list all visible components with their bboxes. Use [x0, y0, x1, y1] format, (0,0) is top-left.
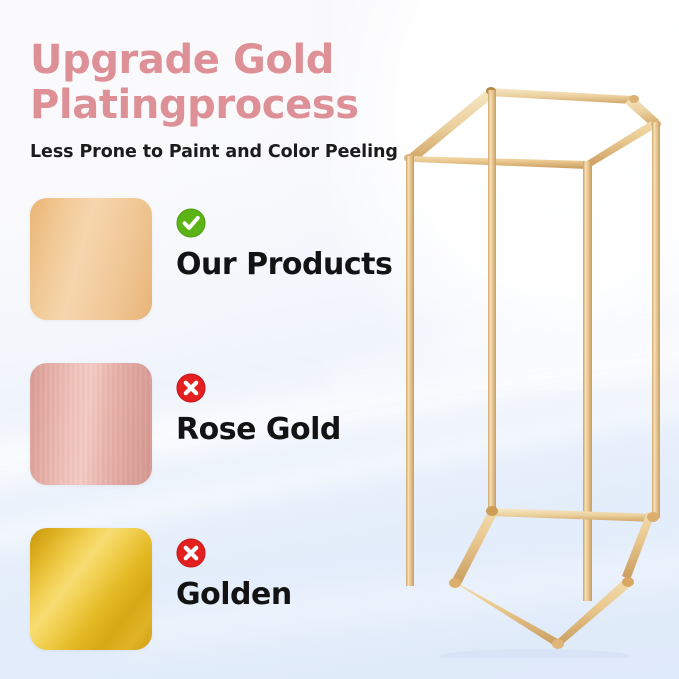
comparison-row: Golden — [30, 528, 292, 650]
x-circle-icon — [176, 538, 206, 568]
x-circle-icon — [176, 373, 206, 403]
page-title: Upgrade Gold Platingprocess — [30, 38, 430, 128]
comparison-item-label: Rose Gold — [176, 412, 341, 447]
comparison-row-text: Golden — [176, 528, 292, 612]
rose-gold-swatch — [30, 363, 152, 485]
page-subtitle: Less Prone to Paint and Color Peeling — [30, 142, 398, 162]
comparison-item-label: Golden — [176, 577, 292, 612]
golden-swatch — [30, 528, 152, 650]
check-circle-icon — [176, 208, 206, 238]
comparison-row: Our Products — [30, 198, 392, 320]
gold-rectangular-frame-stand — [385, 28, 679, 658]
comparison-row-text: Rose Gold — [176, 363, 341, 447]
comparison-item-label: Our Products — [176, 247, 392, 282]
champagne-gold-swatch — [30, 198, 152, 320]
comparison-row: Rose Gold — [30, 363, 341, 485]
comparison-row-text: Our Products — [176, 198, 392, 282]
infographic-canvas: Upgrade Gold Platingprocess Less Prone t… — [0, 0, 679, 679]
